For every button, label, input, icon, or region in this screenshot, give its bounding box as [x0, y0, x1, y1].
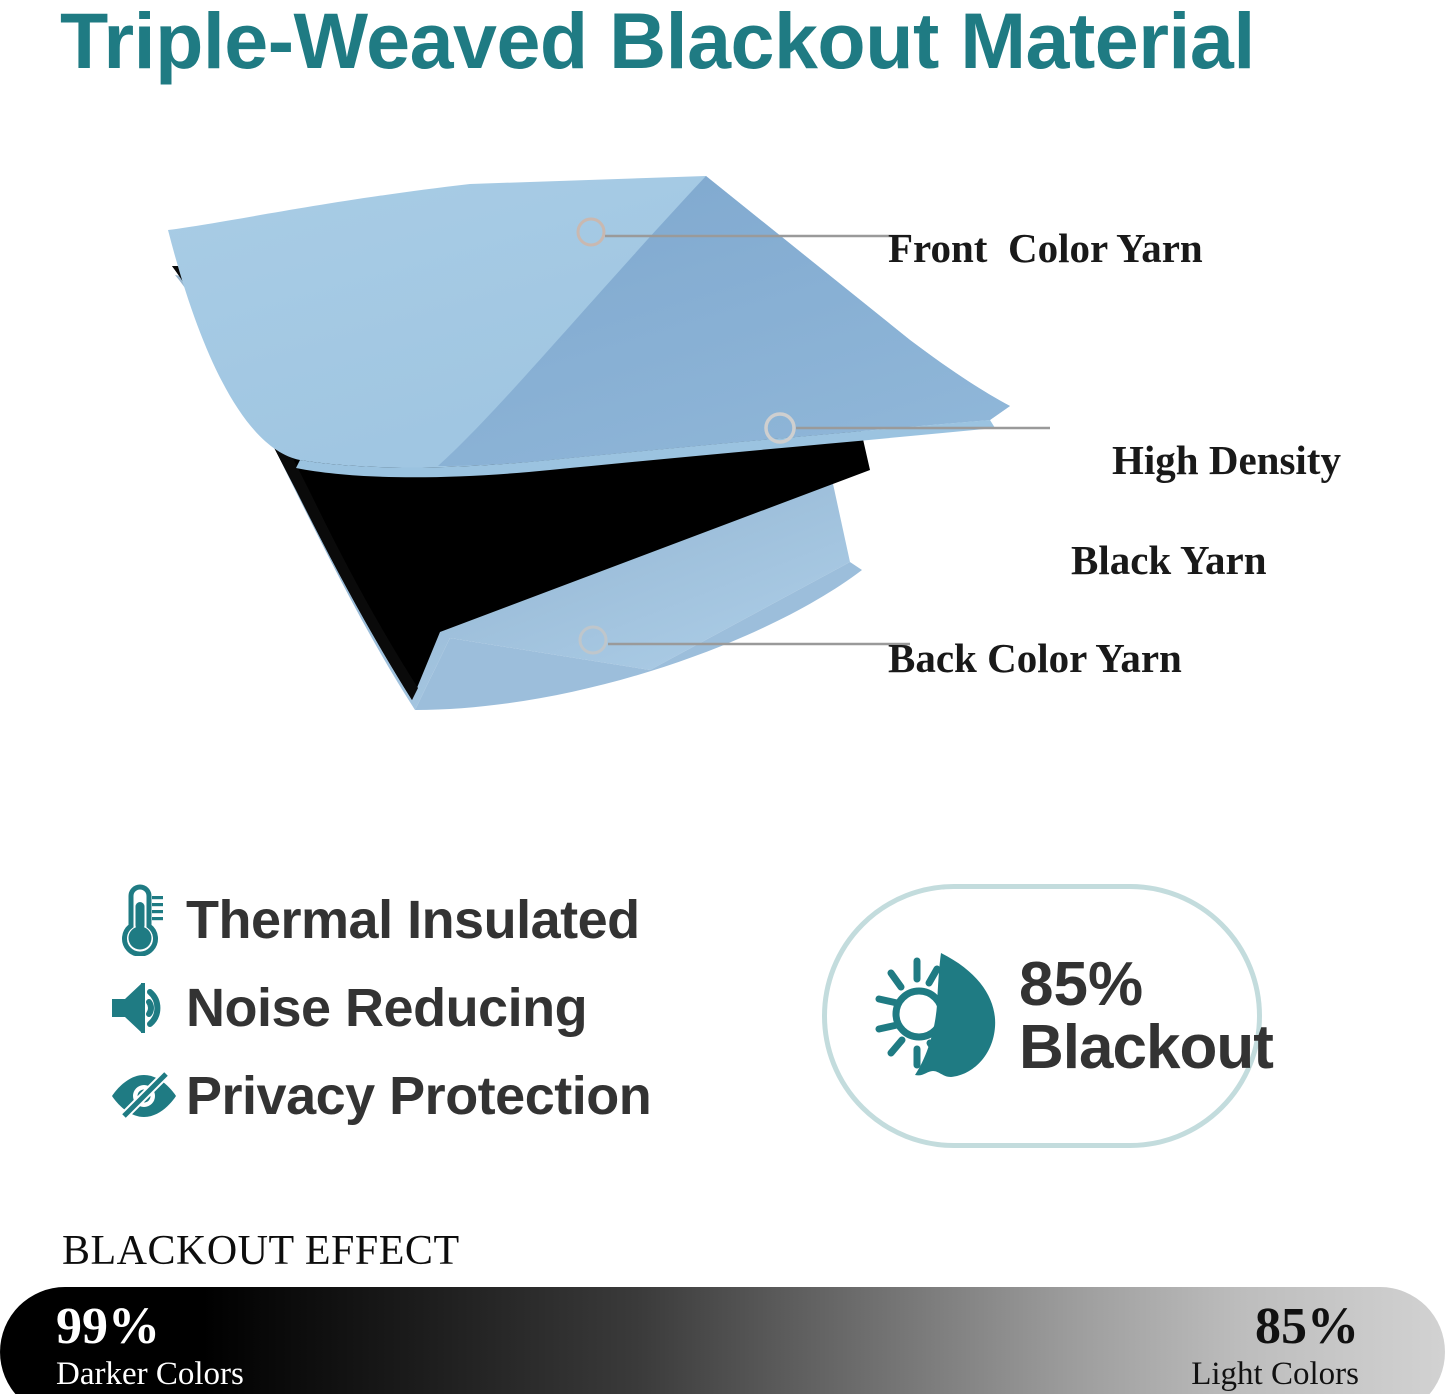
feature-label: Thermal Insulated [186, 889, 640, 951]
callout-label-line-1: High Density [1112, 437, 1341, 483]
bar-label-light-colors: 85% Light Colors [1191, 1299, 1359, 1393]
bar-label-darker-colors: 99% Darker Colors [56, 1299, 244, 1393]
badge-percent: 85% [1019, 953, 1273, 1016]
badge-word: Blackout [1019, 1016, 1273, 1079]
badge-text-block: 85% Blackout [1019, 953, 1273, 1079]
blackout-percentage-badge: 85% Blackout [822, 884, 1262, 1148]
bar-percent-right: 85% [1191, 1299, 1359, 1355]
callout-label-back-color-yarn: Back Color Yarn [888, 632, 1182, 684]
blackout-effect-heading: BLACKOUT EFFECT [62, 1227, 460, 1275]
feature-label: Privacy Protection [186, 1065, 651, 1127]
bar-caption-right: Light Colors [1191, 1355, 1359, 1393]
callout-label-front-color-yarn: Front Color Yarn [888, 222, 1203, 274]
thermometer-icon [108, 884, 186, 956]
page-title: Triple-Weaved Blackout Material [60, 0, 1420, 86]
feature-label: Noise Reducing [186, 977, 587, 1039]
bar-caption-left: Darker Colors [56, 1355, 244, 1393]
bar-percent-left: 99% [56, 1299, 244, 1355]
blackout-effect-gradient-bar: 99% Darker Colors 85% Light Colors [0, 1287, 1445, 1394]
callout-label-line-2: Black Yarn [1071, 535, 1341, 585]
feature-item-noise-reducing: Noise Reducing [108, 964, 748, 1052]
feature-item-privacy-protection: Privacy Protection [108, 1052, 748, 1140]
speaker-icon [108, 978, 186, 1038]
product-infographic: Triple-Weaved Blackout Material [0, 0, 1445, 1394]
sun-blocked-icon [869, 939, 1009, 1094]
front-color-yarn-layer [168, 176, 1010, 477]
feature-list: Thermal Insulated Noise Reducing [108, 876, 748, 1140]
feature-item-thermal-insulated: Thermal Insulated [108, 876, 748, 964]
eye-slash-icon [108, 1069, 186, 1123]
